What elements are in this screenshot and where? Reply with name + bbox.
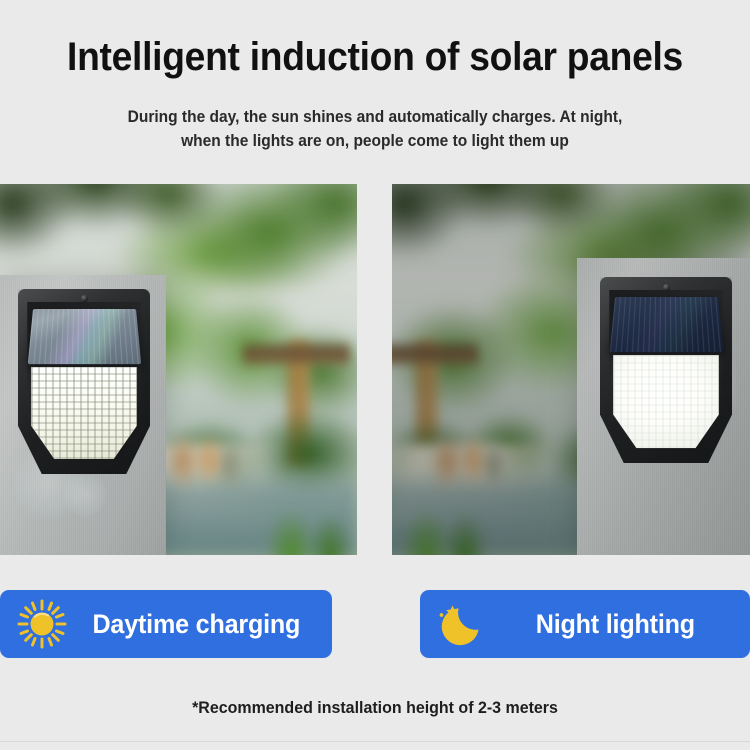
mount-screw-icon bbox=[663, 284, 670, 291]
solar-panel bbox=[27, 309, 140, 364]
led-panel bbox=[31, 367, 137, 460]
solar-wall-lamp-day bbox=[18, 289, 150, 474]
page-subtitle: During the day, the sun shines and autom… bbox=[93, 105, 657, 153]
daytime-charging-button[interactable]: Daytime charging bbox=[0, 590, 332, 658]
night-lighting-button[interactable]: Night lighting bbox=[420, 590, 750, 658]
sun-icon bbox=[14, 596, 70, 652]
night-lighting-label: Night lighting bbox=[499, 609, 741, 640]
solar-panel bbox=[609, 297, 722, 352]
nighttime-photo bbox=[392, 184, 750, 555]
installation-note: *Recommended installation height of 2-3 … bbox=[23, 698, 728, 718]
subtitle-line-1: During the day, the sun shines and autom… bbox=[128, 108, 623, 126]
grass-layer bbox=[392, 473, 499, 555]
product-feature-page: Intelligent induction of solar panels Du… bbox=[0, 0, 750, 750]
page-title: Intelligent induction of solar panels bbox=[26, 33, 724, 81]
photo-gallery bbox=[0, 184, 750, 555]
subtitle-line-2: when the lights are on, people come to l… bbox=[93, 129, 657, 153]
solar-wall-lamp-night bbox=[600, 277, 732, 463]
led-panel bbox=[613, 355, 719, 448]
solar-panel-sheen bbox=[609, 297, 722, 352]
grass-layer bbox=[243, 473, 357, 555]
moon-stars-icon bbox=[434, 596, 490, 652]
daytime-charging-label: Daytime charging bbox=[79, 609, 323, 640]
daytime-photo bbox=[0, 184, 357, 555]
planter-pots-layer bbox=[157, 421, 250, 488]
bottom-divider bbox=[0, 741, 750, 742]
solar-panel-sheen bbox=[27, 309, 140, 364]
